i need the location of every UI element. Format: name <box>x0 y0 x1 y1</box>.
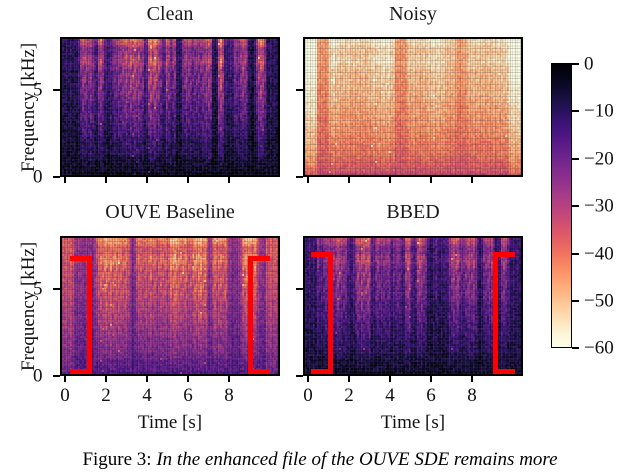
x-tick-label-ouve-6: 6 <box>183 386 193 405</box>
colorbar-label--10: −10 <box>584 102 614 121</box>
y-axis-title-bottom: Frequency [kHz] <box>18 242 40 371</box>
spectrogram-ouve-baseline <box>62 238 278 374</box>
x-tick-bbed-8 <box>471 376 473 382</box>
y-tick-bottom-5 <box>53 288 60 290</box>
colorbar-label--50: −50 <box>584 292 614 311</box>
panel-title-bbed: BBED <box>303 200 523 224</box>
y-tick-noisy-5 <box>296 89 303 91</box>
x-tick-noisy-8 <box>471 177 473 183</box>
x-tick-ouve-6 <box>187 376 189 382</box>
y-tick-label-top-5: 5 <box>33 81 43 100</box>
panel-ouve-baseline <box>60 236 280 376</box>
x-tick-ouve-4 <box>146 376 148 382</box>
figure-caption: Figure 3: In the enhanced file of the OU… <box>0 448 640 471</box>
y-tick-label-bottom-0: 0 <box>33 367 43 386</box>
y-tick-top-5 <box>53 89 60 91</box>
colorbar <box>551 63 572 348</box>
x-tick-label-bbed-0: 0 <box>303 386 313 405</box>
x-tick-clean-4 <box>146 177 148 183</box>
x-tick-label-bbed-2: 2 <box>344 386 354 405</box>
x-axis-title-ouve: Time [s] <box>138 412 202 434</box>
y-axis-title-top: Frequency [kHz] <box>18 43 40 172</box>
x-tick-label-ouve-2: 2 <box>101 386 111 405</box>
spectrogram-noisy <box>305 39 521 175</box>
texture-overlay-2 <box>305 39 521 175</box>
x-tick-bbed-2 <box>348 376 350 382</box>
spectrogram-bbed <box>305 238 521 374</box>
colorbar-gradient <box>552 64 571 347</box>
caption-text: In the enhanced file of the OUVE SDE rem… <box>156 449 557 470</box>
x-tick-noisy-4 <box>389 177 391 183</box>
colorbar-label--30: −30 <box>584 197 614 216</box>
y-tick-noisy-0 <box>296 176 303 178</box>
x-tick-label-ouve-8: 8 <box>224 386 234 405</box>
x-tick-label-ouve-4: 4 <box>142 386 152 405</box>
x-tick-noisy-2 <box>348 177 350 183</box>
x-tick-ouve-0 <box>64 376 66 382</box>
colorbar-tick--20 <box>572 158 579 160</box>
texture-overlay-2 <box>305 238 521 374</box>
y-tick-label-top-0: 0 <box>33 168 43 187</box>
colorbar-label--60: −60 <box>584 339 614 358</box>
y-tick-bottom-0 <box>53 375 60 377</box>
x-tick-label-bbed-6: 6 <box>426 386 436 405</box>
figure-3: Clean Noisy OUVE Baseline <box>0 0 640 473</box>
panel-clean <box>60 37 280 177</box>
colorbar-tick-0 <box>572 63 579 65</box>
panel-title-clean: Clean <box>60 2 280 26</box>
x-tick-label-bbed-4: 4 <box>385 386 395 405</box>
colorbar-tick--40 <box>572 253 579 255</box>
panel-title-noisy: Noisy <box>303 2 523 26</box>
y-tick-bbed-5 <box>296 288 303 290</box>
panel-bbed <box>303 236 523 376</box>
x-tick-clean-6 <box>187 177 189 183</box>
x-tick-bbed-6 <box>430 376 432 382</box>
x-tick-noisy-6 <box>430 177 432 183</box>
annotation-bracket-left-ouve <box>70 256 92 374</box>
caption-label: Figure 3: <box>82 449 151 470</box>
x-tick-label-bbed-8: 8 <box>467 386 477 405</box>
panel-noisy <box>303 37 523 177</box>
annotation-bracket-left-bbed <box>311 252 333 374</box>
x-tick-bbed-4 <box>389 376 391 382</box>
spectrogram-clean <box>62 39 278 175</box>
colorbar-tick--10 <box>572 110 579 112</box>
x-tick-bbed-0 <box>307 376 309 382</box>
x-tick-clean-2 <box>105 177 107 183</box>
x-tick-ouve-8 <box>228 376 230 382</box>
x-tick-label-ouve-0: 0 <box>60 386 70 405</box>
colorbar-label--20: −20 <box>584 150 614 169</box>
x-tick-clean-8 <box>228 177 230 183</box>
x-tick-noisy-0 <box>307 177 309 183</box>
annotation-bracket-right-bbed <box>493 252 515 374</box>
texture-overlay-2 <box>62 39 278 175</box>
y-tick-top-0 <box>53 176 60 178</box>
colorbar-label-0: 0 <box>584 55 594 74</box>
x-tick-ouve-2 <box>105 376 107 382</box>
x-axis-title-bbed: Time [s] <box>381 412 445 434</box>
y-tick-label-bottom-5: 5 <box>33 280 43 299</box>
y-tick-bbed-0 <box>296 375 303 377</box>
colorbar-label--40: −40 <box>584 245 614 264</box>
annotation-bracket-right-ouve <box>248 256 270 374</box>
panel-title-ouve-baseline: OUVE Baseline <box>60 200 280 224</box>
colorbar-tick--50 <box>572 300 579 302</box>
x-tick-clean-0 <box>64 177 66 183</box>
colorbar-tick--60 <box>572 347 579 349</box>
texture-overlay-2 <box>62 238 278 374</box>
colorbar-tick--30 <box>572 205 579 207</box>
